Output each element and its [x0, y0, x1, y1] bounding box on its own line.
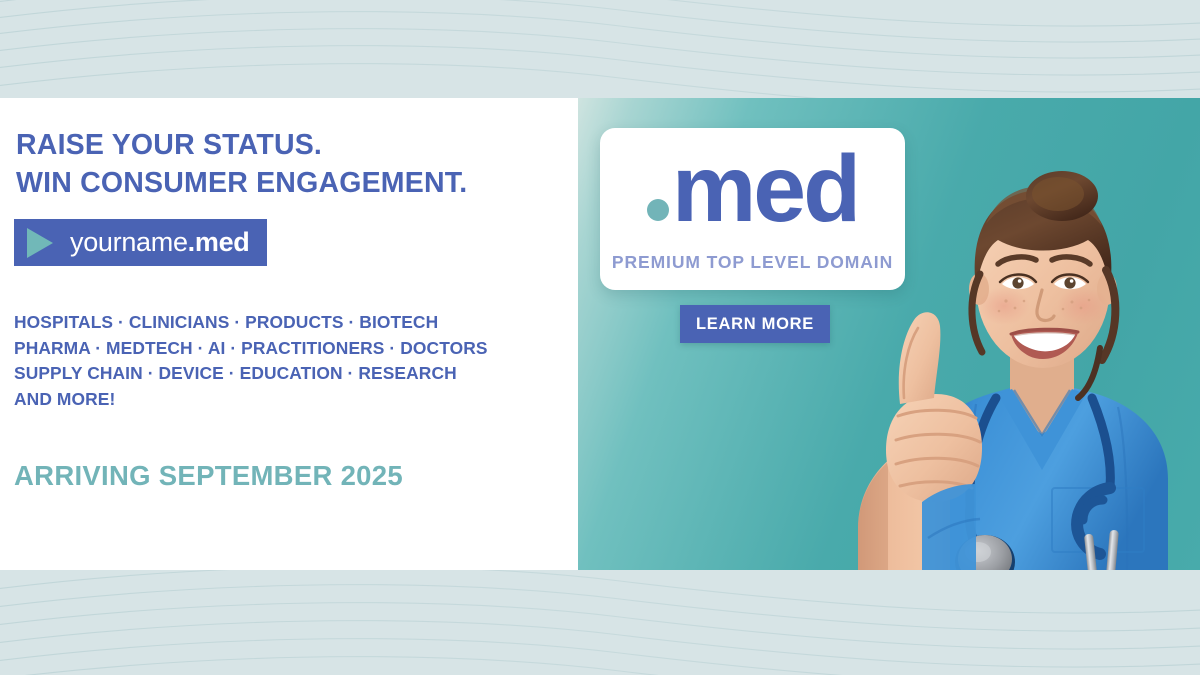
domain-example-name: yourname	[70, 227, 188, 257]
keyword-list: HOSPITALS · CLINICIANS · PRODUCTS · BIOT…	[14, 310, 574, 412]
keyword-line-1: HOSPITALS · CLINICIANS · PRODUCTS · BIOT…	[14, 310, 574, 336]
page-background: RAISE YOUR STATUS. WIN CONSUMER ENGAGEME…	[0, 0, 1200, 675]
learn-more-button[interactable]: LEARN MORE	[680, 305, 830, 343]
headline-line-2: WIN CONSUMER ENGAGEMENT.	[16, 164, 572, 202]
art-panel: med PREMIUM TOP LEVEL DOMAIN LEARN MORE	[578, 98, 1200, 570]
domain-example-chip[interactable]: yourname.med	[14, 219, 267, 266]
headline-line-1: RAISE YOUR STATUS.	[16, 126, 572, 164]
promo-banner: RAISE YOUR STATUS. WIN CONSUMER ENGAGEME…	[0, 98, 1200, 570]
copy-panel: RAISE YOUR STATUS. WIN CONSUMER ENGAGEME…	[0, 98, 578, 570]
arrival-date-text: ARRIVING SEPTEMBER 2025	[14, 460, 403, 492]
keyword-line-3: SUPPLY CHAIN · DEVICE · EDUCATION · RESE…	[14, 361, 574, 387]
headline: RAISE YOUR STATUS. WIN CONSUMER ENGAGEME…	[16, 126, 572, 202]
keyword-line-4: AND MORE!	[14, 387, 574, 413]
dot-icon	[647, 199, 669, 221]
play-triangle-icon	[27, 228, 53, 258]
domain-example-text: yourname.med	[70, 229, 250, 256]
med-wordmark-text: med	[672, 136, 858, 242]
med-logo-tagline: PREMIUM TOP LEVEL DOMAIN	[600, 252, 905, 273]
med-logo-card: med PREMIUM TOP LEVEL DOMAIN	[600, 128, 905, 290]
med-wordmark: med	[600, 142, 905, 237]
domain-example-tld: .med	[188, 227, 250, 257]
keyword-line-2: PHARMA · MEDTECH · AI · PRACTITIONERS · …	[14, 336, 574, 362]
